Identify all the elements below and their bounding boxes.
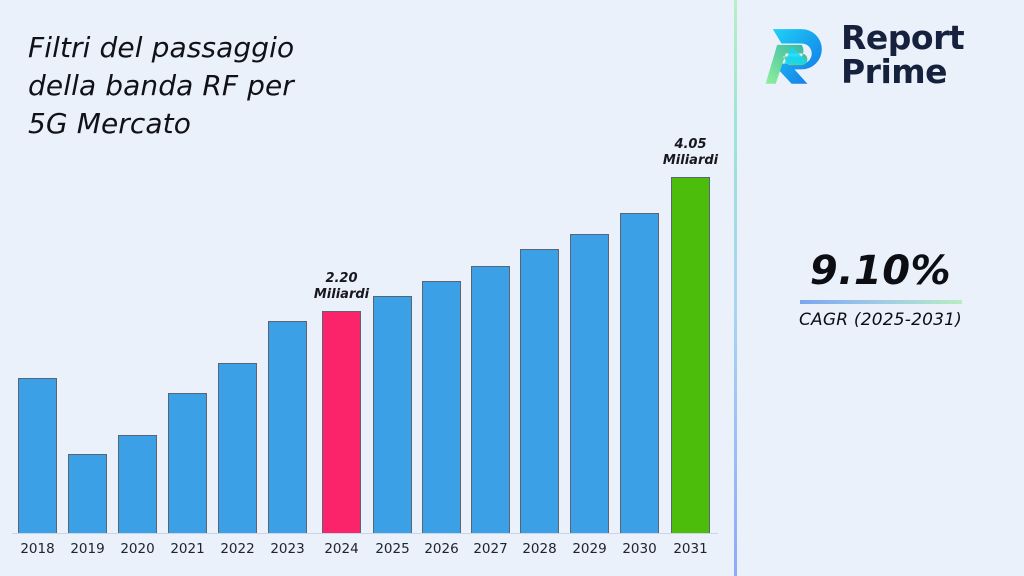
x-tick-2020: 2020	[110, 541, 165, 557]
bar-2021	[168, 393, 207, 533]
bar-2023	[268, 321, 307, 533]
cagr-caption: CAGR (2025-2031)	[737, 310, 1024, 330]
bar-2027	[471, 266, 510, 533]
bar-2026	[422, 281, 461, 533]
bar-2028	[520, 249, 559, 533]
summary-panel: Report Prime 9.10% CAGR (2025-2031)	[737, 0, 1024, 576]
cagr-block: 9.10% CAGR (2025-2031)	[737, 248, 1024, 330]
x-tick-2026: 2026	[414, 541, 469, 557]
chart-panel: Filtri del passaggio della banda RF per …	[0, 0, 735, 576]
infographic-root: Filtri del passaggio della banda RF per …	[0, 0, 1024, 576]
report-prime-logo-icon	[757, 19, 829, 91]
bar-2031	[671, 177, 710, 533]
x-tick-2024: 2024	[314, 541, 369, 557]
bar-2030	[620, 213, 659, 533]
bar-2025	[373, 296, 412, 533]
x-tick-2029: 2029	[562, 541, 617, 557]
cagr-value: 9.10%	[737, 248, 1024, 294]
x-tick-2031: 2031	[663, 541, 718, 557]
x-tick-2027: 2027	[463, 541, 518, 557]
x-tick-2025: 2025	[365, 541, 420, 557]
brand-name-line1: Report	[841, 21, 964, 55]
bar-2020	[118, 435, 157, 533]
x-tick-2019: 2019	[60, 541, 115, 557]
bar-annotation-2031: 4.05 Miliardi	[633, 137, 748, 170]
x-tick-2022: 2022	[210, 541, 265, 557]
bar-2018	[18, 378, 57, 533]
x-axis-line	[12, 533, 718, 534]
brand-name-line2: Prime	[841, 55, 964, 89]
brand-name: Report Prime	[841, 21, 964, 88]
cagr-divider	[800, 300, 962, 304]
x-tick-2021: 2021	[160, 541, 215, 557]
bar-2019	[68, 454, 107, 533]
x-tick-2028: 2028	[512, 541, 567, 557]
x-tick-2018: 2018	[10, 541, 65, 557]
brand-logo: Report Prime	[757, 12, 1019, 98]
bar-2029	[570, 234, 609, 533]
bar-2022	[218, 363, 257, 533]
x-tick-2023: 2023	[260, 541, 315, 557]
bar-2024	[322, 311, 361, 533]
x-tick-2030: 2030	[612, 541, 667, 557]
bar-chart: 2018201920202021202220232024202520262027…	[0, 0, 735, 576]
